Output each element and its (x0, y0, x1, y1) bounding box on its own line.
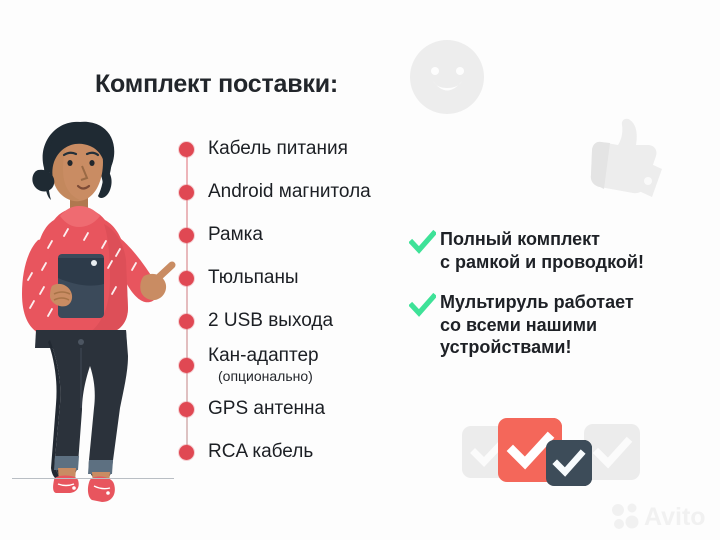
list-item-label-wrapper: Кан-адаптер (опционально) (208, 345, 319, 384)
checkbox-dark (546, 440, 592, 486)
benefit-item: Мультируль работает со всеми нашими устр… (409, 291, 704, 360)
list-item: Рамка (176, 216, 416, 254)
benefit-line-2: с рамкой и проводкой! (440, 252, 644, 272)
check-mark-icon (409, 292, 436, 319)
svg-text:Avito: Avito (644, 503, 706, 531)
list-item: Кан-адаптер (опционально) (176, 345, 416, 389)
list-item: GPS антенна (176, 390, 416, 428)
list-item: Android магнитола (176, 173, 416, 211)
list-item-label: 2 USB выхода (208, 310, 333, 332)
avito-logo-icon: Avito (608, 498, 712, 532)
promo-card: Avito Комплект поставки: Кабель питания … (0, 0, 720, 540)
list-item-label: RCA кабель (208, 441, 313, 463)
benefit-line-1: Полный комплект (440, 229, 600, 249)
checkbox-grey-right (584, 424, 640, 480)
woman-pointing-illustration (8, 108, 183, 506)
benefits-list: Полный комплект с рамкой и проводкой! Му… (409, 228, 704, 376)
benefit-line-2: со всеми нашими (440, 315, 597, 335)
list-item-label: GPS антенна (208, 398, 325, 420)
list-item: Тюльпаны (176, 259, 416, 297)
ground-line (12, 478, 174, 479)
list-item-label: Тюльпаны (208, 267, 299, 289)
benefit-item: Полный комплект с рамкой и проводкой! (409, 228, 704, 274)
benefit-line-3: устройствами! (440, 337, 571, 357)
thumbs-up-icon (578, 115, 670, 207)
list-item-label: Кабель питания (208, 138, 348, 160)
list-item-label: Кан-адаптер (208, 345, 319, 366)
list-item: RCA кабель (176, 433, 416, 471)
page-title: Комплект поставки: (95, 70, 338, 99)
list-item-sublabel: (опционально) (218, 368, 319, 384)
list-item: Кабель питания (176, 130, 416, 168)
benefit-text: Полный комплект с рамкой и проводкой! (440, 228, 644, 274)
list-item-label: Android магнитола (208, 181, 371, 203)
benefit-line-1: Мультируль работает (440, 292, 634, 312)
benefit-text: Мультируль работает со всеми нашими устр… (440, 291, 634, 360)
list-item-label: Рамка (208, 224, 263, 246)
list-item: 2 USB выхода (176, 302, 416, 340)
checkbox-group-icon (462, 414, 642, 486)
kit-contents-list: Кабель питания Android магнитола Рамка Т… (176, 130, 416, 476)
smiley-face-icon (408, 38, 486, 116)
check-mark-icon (409, 229, 436, 256)
